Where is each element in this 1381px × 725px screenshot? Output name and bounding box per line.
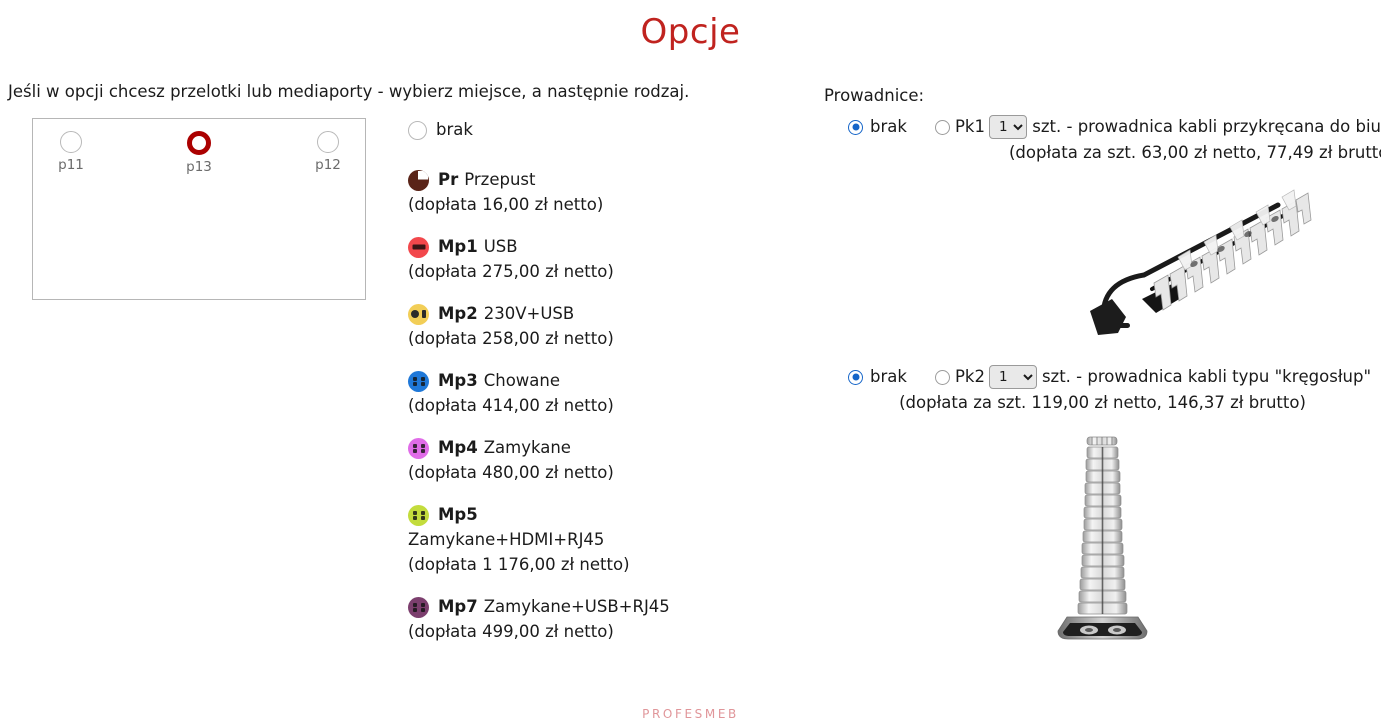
retractable-ports-icon[interactable] bbox=[408, 371, 429, 392]
mediaport-option-mp4[interactable]: Mp4 Zamykane (dopłata 480,00 zł netto) bbox=[408, 436, 808, 485]
guides-heading: Prowadnice: bbox=[824, 84, 1381, 108]
mediaport-name-mp1: USB bbox=[484, 235, 518, 259]
usb-rj45-ports-icon[interactable] bbox=[408, 597, 429, 618]
guide-pk1-code: Pk1 bbox=[955, 114, 985, 140]
placement-ring-p12[interactable] bbox=[317, 131, 339, 153]
mediaport-name-pr: Przepust bbox=[464, 168, 535, 192]
guide-pk2-code: Pk2 bbox=[955, 364, 985, 390]
placement-spot-p13[interactable]: p13 bbox=[169, 131, 229, 175]
guide-pk1-none-radio[interactable] bbox=[848, 120, 863, 135]
mediaport-option-mp5[interactable]: Mp5 Zamykane+HDMI+RJ45 (dopłata 1 176,00… bbox=[408, 503, 808, 577]
guide-group-pk1: brak Pk1 12345 szt. - prowadnica kabli p… bbox=[824, 114, 1381, 350]
mediaport-code-mp3: Mp3 bbox=[438, 369, 478, 393]
mediaport-option-mp7[interactable]: Mp7 Zamykane+USB+RJ45 (dopłata 499,00 zł… bbox=[408, 595, 808, 644]
mediaport-name-mp7: Zamykane+USB+RJ45 bbox=[484, 595, 670, 619]
mediaport-name-mp5: Zamykane+HDMI+RJ45 bbox=[408, 527, 808, 552]
placement-label-p11: p11 bbox=[41, 157, 101, 173]
mediaport-price-mp4: (dopłata 480,00 zł netto) bbox=[408, 460, 808, 485]
placement-section: Jeśli w opcji chcesz przelotki lub media… bbox=[8, 80, 400, 300]
mediaport-label-brak: brak bbox=[436, 118, 473, 142]
mediaport-option-mp1[interactable]: Mp1 USB (dopłata 275,00 zł netto) bbox=[408, 235, 808, 284]
guide-pk1-radio[interactable] bbox=[935, 120, 950, 135]
mediaport-code-mp7: Mp7 bbox=[438, 595, 478, 619]
mediaport-name-mp2: 230V+USB bbox=[484, 302, 574, 326]
guide-pk2-surcharge: (dopłata za szt. 119,00 zł netto, 146,37… bbox=[824, 390, 1381, 415]
guide-pk1-none-label: brak bbox=[870, 114, 907, 140]
usb-port-icon[interactable] bbox=[408, 237, 429, 258]
placement-spot-p12[interactable]: p12 bbox=[298, 131, 358, 173]
guide-row-pk1: brak Pk1 12345 szt. - prowadnica kabli p… bbox=[824, 114, 1381, 140]
guide-group-pk2: brak Pk2 12345 szt. - prowadnica kabli t… bbox=[824, 364, 1381, 652]
placement-label-p13: p13 bbox=[169, 159, 229, 175]
mediaport-code-mp2: Mp2 bbox=[438, 302, 478, 326]
page-title: Opcje bbox=[0, 10, 1381, 54]
cable-spine-vertical-photo bbox=[824, 433, 1381, 652]
mediaport-option-brak[interactable]: brak bbox=[408, 118, 808, 142]
guide-pk1-description: szt. - prowadnica kabli przykręcana do b… bbox=[1032, 114, 1381, 140]
guide-row-pk2: brak Pk2 12345 szt. - prowadnica kabli t… bbox=[824, 364, 1381, 390]
guide-pk2-description: szt. - prowadnica kabli typu "kręgosłup" bbox=[1042, 364, 1371, 390]
guide-pk1-qty-select[interactable]: 12345 bbox=[989, 115, 1027, 139]
radio-empty-icon[interactable] bbox=[408, 121, 427, 140]
closable-ports-icon[interactable] bbox=[408, 438, 429, 459]
guide-pk2-none-label: brak bbox=[870, 364, 907, 390]
power-usb-icon[interactable] bbox=[408, 304, 429, 325]
placement-diagram[interactable]: p11 p13 p12 bbox=[32, 118, 366, 300]
placement-spot-p11[interactable]: p11 bbox=[41, 131, 101, 173]
mediaport-option-mp2[interactable]: Mp2 230V+USB (dopłata 258,00 zł netto) bbox=[408, 302, 808, 351]
placement-ring-p11[interactable] bbox=[60, 131, 82, 153]
mediaport-name-mp3: Chowane bbox=[484, 369, 560, 393]
mediaport-code-mp4: Mp4 bbox=[438, 436, 478, 460]
mediaport-option-mp3[interactable]: Mp3 Chowane (dopłata 414,00 zł netto) bbox=[408, 369, 808, 418]
mediaport-code-mp1: Mp1 bbox=[438, 235, 478, 259]
mediaport-price-mp2: (dopłata 258,00 zł netto) bbox=[408, 326, 808, 351]
cable-spine-horizontal-photo bbox=[1082, 171, 1381, 350]
mediaport-options-list: brak Pr Przepust (dopłata 16,00 zł netto… bbox=[408, 118, 808, 662]
mediaport-price-mp5: (dopłata 1 176,00 zł netto) bbox=[408, 552, 808, 577]
mediaport-option-pr[interactable]: Pr Przepust (dopłata 16,00 zł netto) bbox=[408, 168, 808, 217]
mediaport-price-mp1: (dopłata 275,00 zł netto) bbox=[408, 259, 808, 284]
guide-pk2-qty-select[interactable]: 12345 bbox=[989, 365, 1037, 389]
placement-label-p12: p12 bbox=[298, 157, 358, 173]
mediaport-price-mp3: (dopłata 414,00 zł netto) bbox=[408, 393, 808, 418]
hdmi-rj45-ports-icon[interactable] bbox=[408, 505, 429, 526]
placement-ring-p13[interactable] bbox=[187, 131, 211, 155]
mediaport-code-pr: Pr bbox=[438, 168, 458, 192]
footer-brand: PROFESMEB bbox=[0, 707, 1381, 721]
grommet-icon[interactable] bbox=[408, 170, 429, 191]
instruction-text: Jeśli w opcji chcesz przelotki lub media… bbox=[8, 80, 400, 104]
guide-pk2-radio[interactable] bbox=[935, 370, 950, 385]
mediaport-name-mp4: Zamykane bbox=[484, 436, 571, 460]
mediaport-price-mp7: (dopłata 499,00 zł netto) bbox=[408, 619, 808, 644]
mediaport-code-mp5: Mp5 bbox=[438, 503, 478, 527]
mediaport-price-pr: (dopłata 16,00 zł netto) bbox=[408, 192, 808, 217]
guide-pk1-surcharge: (dopłata za szt. 63,00 zł netto, 77,49 z… bbox=[824, 140, 1381, 165]
guides-section: Prowadnice: brak Pk1 12345 szt. - prowad… bbox=[824, 84, 1381, 652]
guide-pk2-none-radio[interactable] bbox=[848, 370, 863, 385]
